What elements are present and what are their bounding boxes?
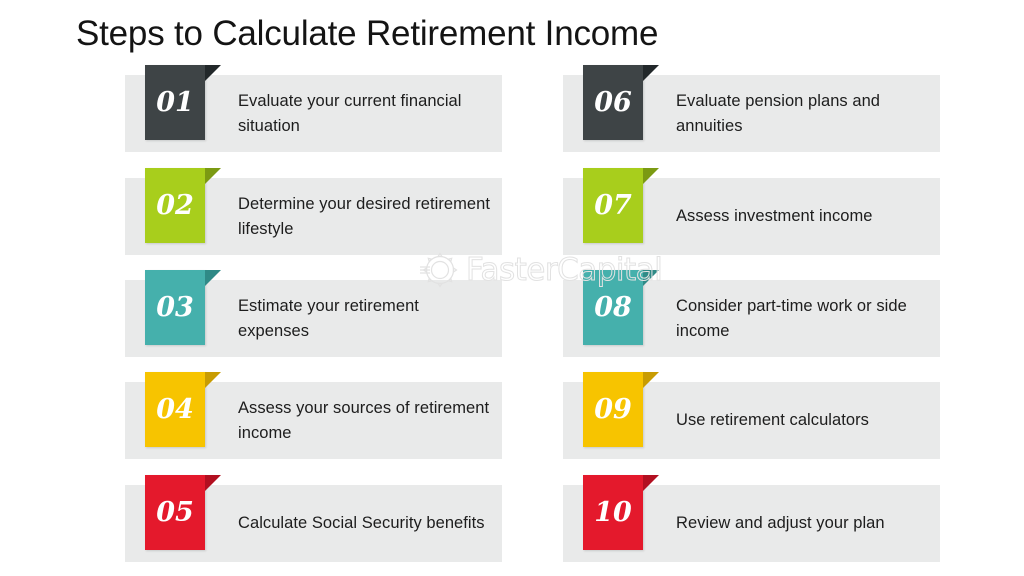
step-label: Assess investment income <box>676 178 931 255</box>
step-label-text: Review and adjust your plan <box>676 511 885 536</box>
step-label-text: Determine your desired retirement lifest… <box>238 192 493 242</box>
step-number-badge: 10 <box>583 475 643 550</box>
step-label-text: Consider part-time work or side income <box>676 294 931 344</box>
ribbon-fold-icon <box>205 65 221 81</box>
ribbon-fold-icon <box>205 270 221 286</box>
ribbon-fold-icon <box>643 65 659 81</box>
step-number-badge: 06 <box>583 65 643 140</box>
step-item-01: 01Evaluate your current financial situat… <box>125 65 502 153</box>
step-number-badge: 03 <box>145 270 205 345</box>
step-number: 03 <box>156 294 194 321</box>
ribbon-fold-icon <box>205 168 221 184</box>
step-number: 01 <box>156 89 194 116</box>
ribbon-fold-icon <box>643 270 659 286</box>
step-item-06: 06Evaluate pension plans and annuities <box>563 65 940 153</box>
step-item-10: 10Review and adjust your plan <box>563 475 940 563</box>
step-label-text: Estimate your retirement expenses <box>238 294 493 344</box>
step-number: 02 <box>156 192 194 219</box>
step-label: Evaluate pension plans and annuities <box>676 75 931 152</box>
ribbon-fold-icon <box>643 168 659 184</box>
step-item-05: 05Calculate Social Security benefits <box>125 475 502 563</box>
steps-column-left: 01Evaluate your current financial situat… <box>125 0 505 576</box>
step-label: Consider part-time work or side income <box>676 280 931 357</box>
step-label-text: Evaluate your current financial situatio… <box>238 89 493 139</box>
step-item-04: 04Assess your sources of retirement inco… <box>125 372 502 460</box>
ribbon-fold-icon <box>205 372 221 388</box>
infographic-slide: Steps to Calculate Retirement Income Fas… <box>0 0 1024 576</box>
step-label: Estimate your retirement expenses <box>238 280 493 357</box>
step-number-badge: 08 <box>583 270 643 345</box>
step-item-02: 02Determine your desired retirement life… <box>125 168 502 256</box>
step-number: 09 <box>594 396 632 423</box>
step-label: Calculate Social Security benefits <box>238 485 493 562</box>
step-item-03: 03Estimate your retirement expenses <box>125 270 502 358</box>
step-number-badge: 02 <box>145 168 205 243</box>
step-label-text: Use retirement calculators <box>676 408 869 433</box>
step-number: 08 <box>594 294 632 321</box>
step-number: 07 <box>594 192 632 219</box>
step-label: Evaluate your current financial situatio… <box>238 75 493 152</box>
step-number-badge: 09 <box>583 372 643 447</box>
step-number: 05 <box>156 499 194 526</box>
step-label: Determine your desired retirement lifest… <box>238 178 493 255</box>
step-item-08: 08Consider part-time work or side income <box>563 270 940 358</box>
step-label-text: Assess investment income <box>676 204 873 229</box>
steps-column-right: 06Evaluate pension plans and annuities07… <box>563 0 943 576</box>
ribbon-fold-icon <box>643 475 659 491</box>
step-number-badge: 01 <box>145 65 205 140</box>
step-label: Use retirement calculators <box>676 382 931 459</box>
ribbon-fold-icon <box>643 372 659 388</box>
step-label: Assess your sources of retirement income <box>238 382 493 459</box>
ribbon-fold-icon <box>205 475 221 491</box>
step-number: 06 <box>594 89 632 116</box>
step-label-text: Assess your sources of retirement income <box>238 396 493 446</box>
step-item-09: 09Use retirement calculators <box>563 372 940 460</box>
step-number-badge: 04 <box>145 372 205 447</box>
step-label-text: Calculate Social Security benefits <box>238 511 485 536</box>
step-item-07: 07Assess investment income <box>563 168 940 256</box>
step-number: 04 <box>156 396 194 423</box>
step-number-badge: 05 <box>145 475 205 550</box>
step-label: Review and adjust your plan <box>676 485 931 562</box>
step-label-text: Evaluate pension plans and annuities <box>676 89 931 139</box>
step-number-badge: 07 <box>583 168 643 243</box>
step-number: 10 <box>594 499 632 526</box>
